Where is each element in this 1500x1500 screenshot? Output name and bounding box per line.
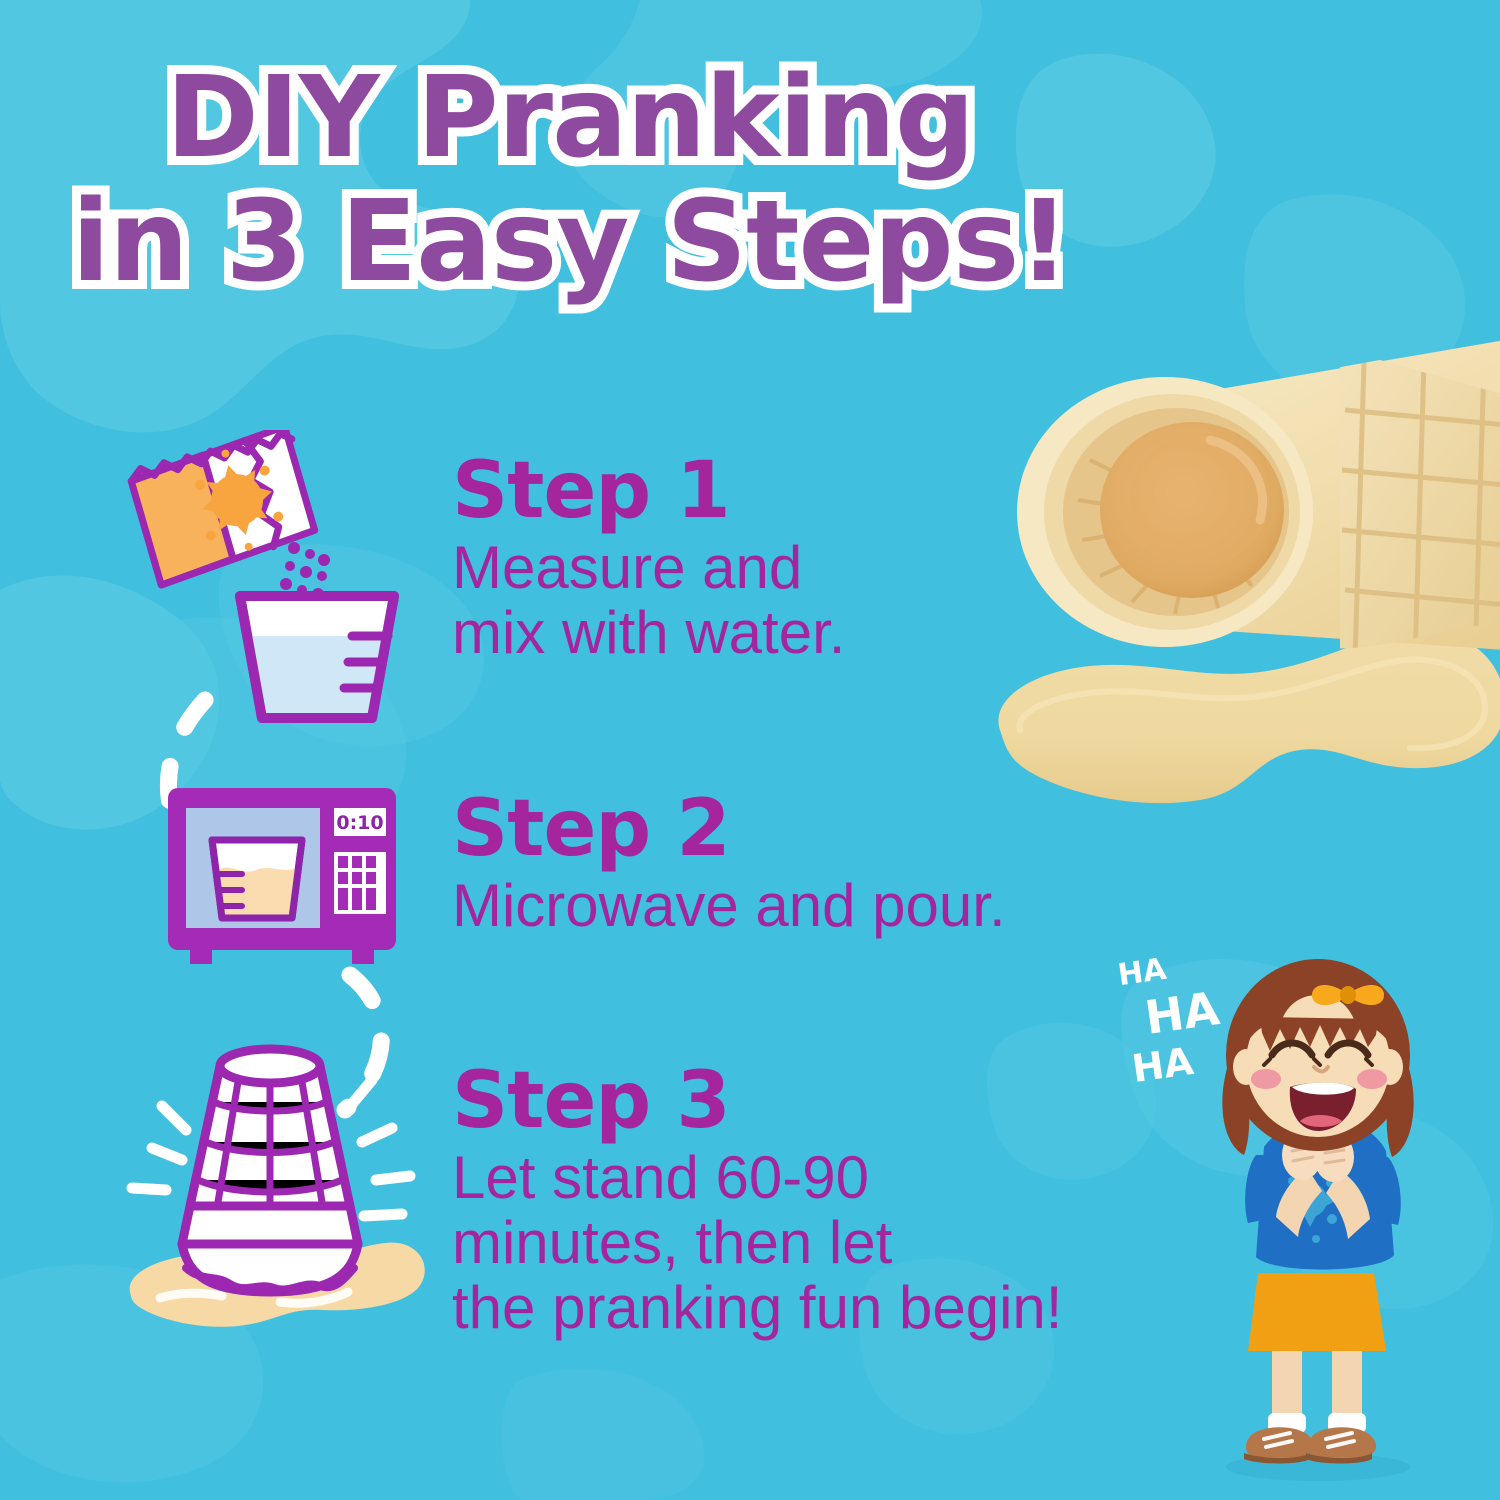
upside-down-cone-spill-icon [110,1030,430,1350]
page-title: DIY Pranking in 3 Easy Steps! [0,62,1140,298]
step-3-heading: Step 3 [452,1062,1152,1140]
microwave-display-text: 0:10 [336,812,383,834]
step-1-body: Measure and mix with water. [452,536,1092,666]
step-3: Step 3 Let stand 60-90 minutes, then let… [452,1062,1152,1340]
step-1: Step 1 Measure and mix with water. [452,452,1092,666]
step-2-body: Microwave and pour. [452,874,1112,939]
powder-packet-pouring-into-measuring-cup-icon [120,430,430,740]
laugh-text-2: HA [1142,985,1222,1041]
step-2-heading: Step 2 [452,790,1112,868]
step-1-heading: Step 1 [452,452,1092,530]
microwave-with-measuring-cup-icon: 0:10 [160,778,410,988]
step-3-body: Let stand 60-90 minutes, then let the pr… [452,1146,1152,1340]
laugh-text-1: HA [1116,955,1168,991]
title-line-1: DIY Pranking [0,62,1140,174]
step-2: Step 2 Microwave and pour. [452,790,1112,939]
poster: DIY Pranking in 3 Easy Steps! [0,0,1500,1500]
title-line-2: in 3 Easy Steps! [0,186,1140,298]
